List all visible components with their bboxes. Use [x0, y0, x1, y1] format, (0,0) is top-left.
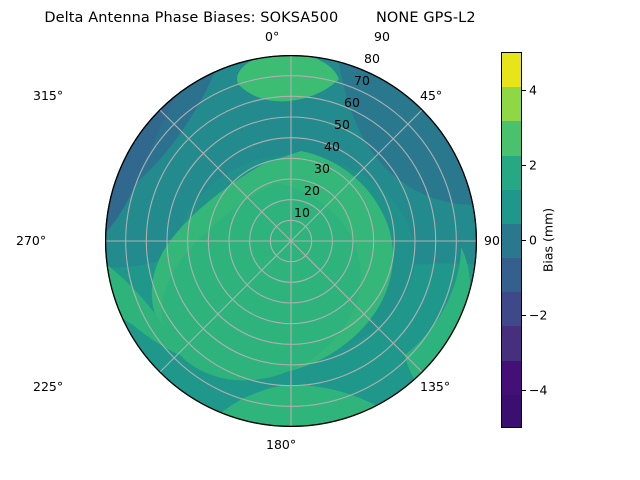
- r-tick-70[interactable]: 70: [354, 73, 370, 88]
- r-tick-80[interactable]: 80: [364, 51, 380, 66]
- colorbar-ticklabel-0: 4: [529, 82, 537, 97]
- r-tick-20[interactable]: 20: [304, 183, 320, 198]
- r-tick-40[interactable]: 40: [324, 139, 340, 154]
- r-tick-60[interactable]: 60: [344, 95, 360, 110]
- colorbar-band-0: [502, 53, 521, 87]
- colorbar-band-1: [502, 87, 521, 121]
- colorbar-ticklabel-2: 0: [529, 233, 537, 248]
- polar-plot: 0° 45° 90 135° 180° 225° 270° 315° 10 20…: [105, 55, 477, 427]
- colorbar-ticklabel-3: −2: [529, 308, 547, 323]
- r-tick-10[interactable]: 10: [294, 205, 310, 220]
- theta-tick-45[interactable]: 45°: [420, 88, 442, 103]
- colorbar-band-9: [502, 361, 521, 395]
- colorbar-band-6: [502, 258, 521, 292]
- colorbar-gradient-strip[interactable]: [501, 52, 522, 428]
- theta-tick-270[interactable]: 270°: [16, 233, 46, 248]
- angular-gridlines: [105, 55, 477, 427]
- colorbar-tickmark-0: [522, 90, 526, 91]
- colorbar-band-4: [502, 190, 521, 224]
- r-tick-30[interactable]: 30: [314, 161, 330, 176]
- colorbar-ticklabel-1: 2: [529, 157, 537, 172]
- polar-chart-canvas: [105, 55, 477, 427]
- colorbar-ticklabel-4: −4: [529, 383, 547, 398]
- colorbar-band-7: [502, 292, 521, 326]
- theta-tick-90[interactable]: 90: [484, 233, 500, 248]
- colorbar-band-10: [502, 395, 521, 428]
- theta-tick-135[interactable]: 135°: [420, 379, 450, 394]
- colorbar-tickmark-3: [522, 315, 526, 316]
- theta-tick-0[interactable]: 0°: [265, 29, 279, 44]
- r-tick-50[interactable]: 50: [334, 117, 350, 132]
- theta-tick-180[interactable]: 180°: [266, 437, 296, 452]
- colorbar-axis-label: Bias (mm): [541, 208, 556, 272]
- page-title: Delta Antenna Phase Biases: SOKSA500 NON…: [0, 10, 520, 26]
- colorbar[interactable]: 420−2−4: [501, 52, 522, 428]
- colorbar-tickmark-2: [522, 240, 526, 241]
- colorbar-tickmark-1: [522, 165, 526, 166]
- colorbar-band-2: [502, 121, 521, 155]
- theta-tick-315[interactable]: 315°: [33, 88, 63, 103]
- colorbar-band-5: [502, 224, 521, 258]
- theta-tick-225[interactable]: 225°: [33, 379, 63, 394]
- colorbar-tickmark-4: [522, 390, 526, 391]
- colorbar-band-3: [502, 156, 521, 190]
- colorbar-band-8: [502, 326, 521, 360]
- r-tick-90[interactable]: 90: [374, 29, 390, 44]
